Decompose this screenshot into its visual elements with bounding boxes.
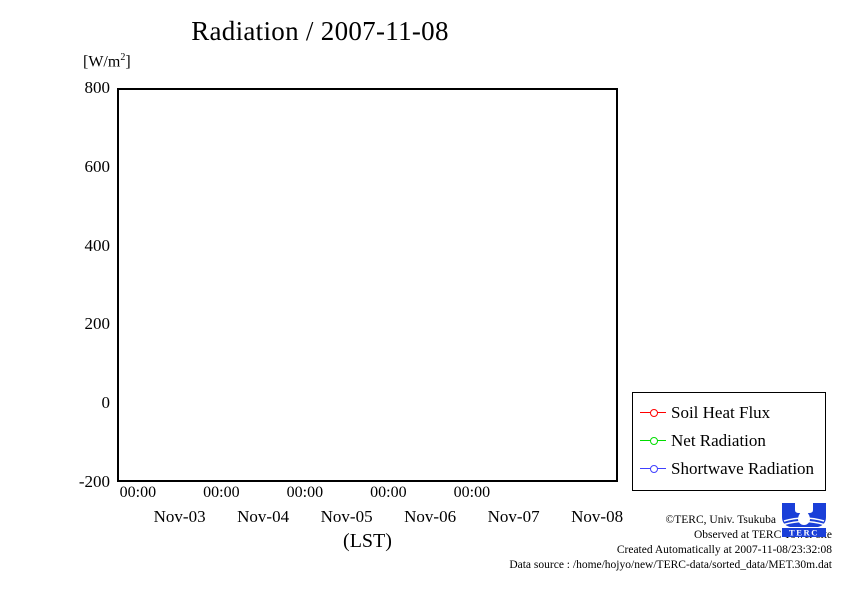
y-axis-tick-200: 200 bbox=[54, 314, 110, 334]
y-axis-tick--200: -200 bbox=[54, 472, 110, 492]
y-axis-tick-600: 600 bbox=[54, 157, 110, 177]
x-axis-date-label-Nov-05: Nov-05 bbox=[321, 507, 373, 527]
terc-logo-icon: TERC bbox=[778, 501, 830, 537]
legend-label-soil-heat-flux: Soil Heat Flux bbox=[671, 403, 770, 423]
legend-marker-soil-heat-flux bbox=[640, 407, 666, 419]
page-title: Radiation / 2007-11-08 bbox=[0, 16, 640, 47]
x-axis-time-label-3: 00:00 bbox=[370, 484, 406, 502]
footer-credits: ©TERC, Univ. Tsukuba Observed at TERC To… bbox=[420, 513, 832, 573]
y-axis-unit-tail: ] bbox=[125, 53, 130, 70]
plot-area bbox=[117, 88, 618, 482]
legend-marker-net-radiation bbox=[640, 435, 666, 447]
svg-text:TERC: TERC bbox=[789, 527, 819, 537]
x-axis-time-label-2: 00:00 bbox=[287, 484, 323, 502]
x-axis-date-label-Nov-04: Nov-04 bbox=[237, 507, 289, 527]
x-axis-time-label-0: 00:00 bbox=[120, 484, 156, 502]
footer-copyright: ©TERC, Univ. Tsukuba bbox=[420, 513, 832, 528]
y-axis-unit-label: [W/m2] bbox=[83, 52, 131, 71]
x-axis-time-label-1: 00:00 bbox=[203, 484, 239, 502]
plot-frame bbox=[117, 88, 618, 482]
x-axis-date-label-Nov-03: Nov-03 bbox=[154, 507, 206, 527]
legend-marker-shortwave-radiation bbox=[640, 463, 666, 475]
footer-data-source: Data source : /home/hojyo/new/TERC-data/… bbox=[420, 558, 832, 573]
legend-label-shortwave-radiation: Shortwave Radiation bbox=[671, 459, 814, 479]
y-axis-unit-main: [W/m bbox=[83, 53, 120, 70]
y-axis-tick-400: 400 bbox=[54, 236, 110, 256]
legend-item-soil-heat-flux[interactable]: Soil Heat Flux bbox=[640, 399, 818, 427]
footer-created-at: Created Automatically at 2007-11-08/23:3… bbox=[420, 543, 832, 558]
legend-item-net-radiation[interactable]: Net Radiation bbox=[640, 427, 818, 455]
chart-legend: Soil Heat Flux Net Radiation Shortwave R… bbox=[632, 392, 826, 491]
y-axis-tick-800: 800 bbox=[54, 78, 110, 98]
y-axis-tick-labels: -2000200400600800 bbox=[54, 88, 110, 482]
footer-observed-at: Observed at TERC Tower site bbox=[420, 528, 832, 543]
legend-item-shortwave-radiation[interactable]: Shortwave Radiation bbox=[640, 455, 818, 483]
y-axis-tick-0: 0 bbox=[54, 393, 110, 413]
x-axis-time-label-4: 00:00 bbox=[454, 484, 490, 502]
legend-label-net-radiation: Net Radiation bbox=[671, 431, 766, 451]
